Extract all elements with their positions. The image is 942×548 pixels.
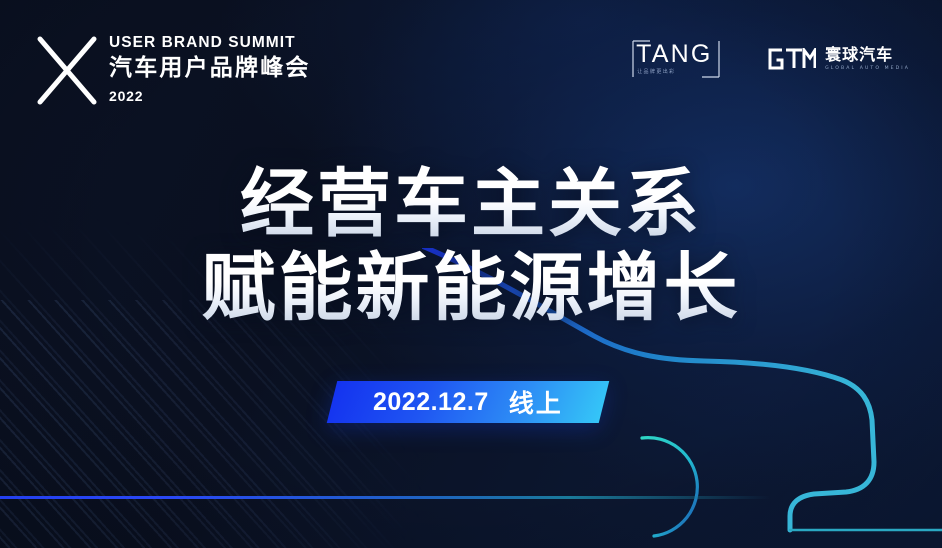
bottom-accent-line: [0, 496, 770, 499]
title-line-1: 经营车主关系: [0, 163, 942, 247]
x-mark-icon: [36, 36, 98, 106]
summit-year: 2022: [109, 88, 311, 105]
summit-logo-text: USER BRAND SUMMIT 汽车用户品牌峰会 2022: [109, 34, 311, 105]
main-title: 经营车主关系 赋能新能源增长: [0, 163, 942, 330]
event-date: 2022.12.7: [373, 388, 489, 417]
gtm-logo: 寰球汽车 GLOBAL AUTO MEDIA: [768, 47, 910, 72]
gtm-monogram-icon: [768, 48, 816, 70]
summit-name-chinese: 汽车用户品牌峰会: [109, 54, 311, 82]
date-banner-content: 2022.12.7 线上: [373, 384, 563, 420]
gtm-name-chinese: 寰球汽车: [825, 47, 910, 64]
event-mode: 线上: [509, 384, 563, 420]
gtm-name-english: GLOBAL AUTO MEDIA: [825, 66, 910, 71]
event-poster: USER BRAND SUMMIT 汽车用户品牌峰会 2022 TANG 让品牌…: [0, 0, 942, 548]
gtm-text-block: 寰球汽车 GLOBAL AUTO MEDIA: [825, 47, 910, 72]
partner-logos: TANG 让品牌更出彩 寰球汽车 GLOBAL AUTO MEDIA: [632, 40, 910, 78]
date-banner: 2022.12.7 线上: [327, 381, 609, 423]
summit-logo: USER BRAND SUMMIT 汽车用户品牌峰会 2022: [36, 34, 311, 106]
summit-name-english: USER BRAND SUMMIT: [109, 34, 311, 52]
tang-wordmark: TANG: [636, 42, 712, 67]
tang-logo-icon: TANG 让品牌更出彩: [632, 40, 720, 78]
title-line-2: 赋能新能源增长: [0, 247, 942, 331]
tang-subtitle: 让品牌更出彩: [637, 68, 675, 75]
